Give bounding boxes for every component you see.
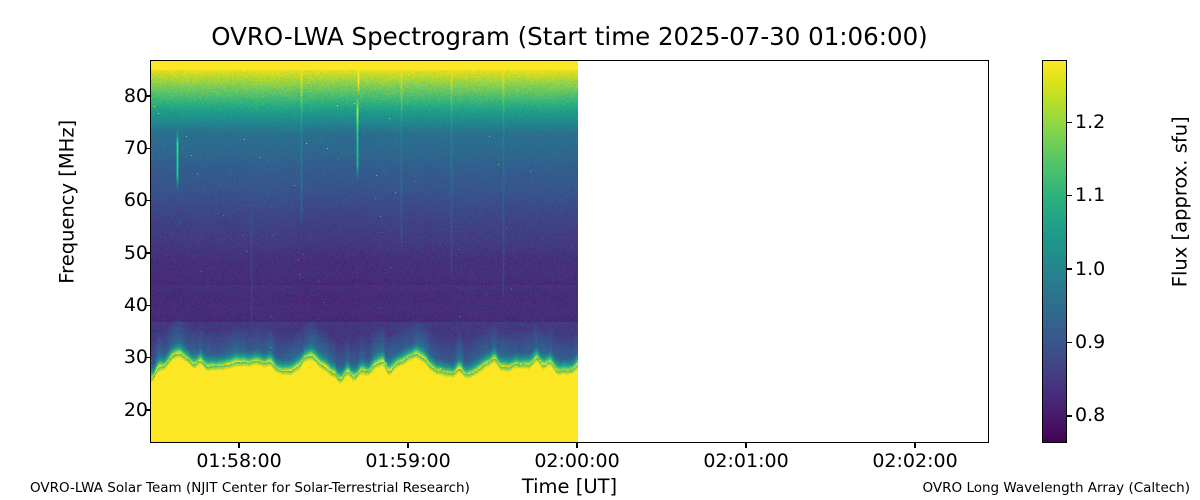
x-tick-mark: [238, 443, 239, 448]
x-tick-mark: [576, 443, 577, 448]
y-tick-label: 40: [124, 296, 148, 315]
x-tick-mark: [745, 443, 746, 448]
page-title: OVRO-LWA Spectrogram (Start time 2025-07…: [150, 25, 989, 50]
x-tick-mark: [407, 443, 408, 448]
y-tick-label: 70: [124, 139, 148, 158]
x-tick-label: 02:00:00: [497, 452, 657, 471]
y-tick-label: 50: [124, 244, 148, 263]
y-tick-label: 30: [124, 348, 148, 367]
spectrogram-heatmap: [151, 61, 989, 443]
x-tick-label: 01:58:00: [159, 452, 319, 471]
colorbar-tick-label: 0.8: [1075, 406, 1105, 425]
colorbar-tick-mark: [1067, 268, 1072, 269]
colorbar-tick-label: 1.2: [1075, 113, 1105, 132]
x-tick-label: 02:02:00: [835, 452, 995, 471]
colorbar-tick-label: 1.1: [1075, 186, 1105, 205]
spectrogram-figure: OVRO-LWA Spectrogram (Start time 2025-07…: [0, 0, 1200, 500]
colorbar-tick-mark: [1067, 122, 1072, 123]
x-tick-label: 01:59:00: [328, 452, 488, 471]
colorbar: [1042, 60, 1067, 443]
footer-credit-right: OVRO Long Wavelength Array (Caltech): [923, 482, 1190, 496]
colorbar-tick-mark: [1067, 342, 1072, 343]
plot-area[interactable]: [150, 60, 989, 443]
colorbar-label: Flux [approx. sfu]: [1170, 22, 1190, 382]
colorbar-tick-label: 1.0: [1075, 260, 1105, 279]
colorbar-gradient: [1043, 61, 1066, 442]
x-tick-label: 02:01:00: [666, 452, 826, 471]
y-tick-label: 60: [124, 191, 148, 210]
colorbar-tick-mark: [1067, 195, 1072, 196]
y-tick-label: 80: [124, 87, 148, 106]
y-tick-label: 20: [124, 401, 148, 420]
x-tick-mark: [914, 443, 915, 448]
colorbar-tick-mark: [1067, 415, 1072, 416]
y-axis-label: Frequency [MHz]: [57, 72, 77, 332]
footer-credit-left: OVRO-LWA Solar Team (NJIT Center for Sol…: [30, 482, 470, 496]
colorbar-tick-label: 0.9: [1075, 333, 1105, 352]
